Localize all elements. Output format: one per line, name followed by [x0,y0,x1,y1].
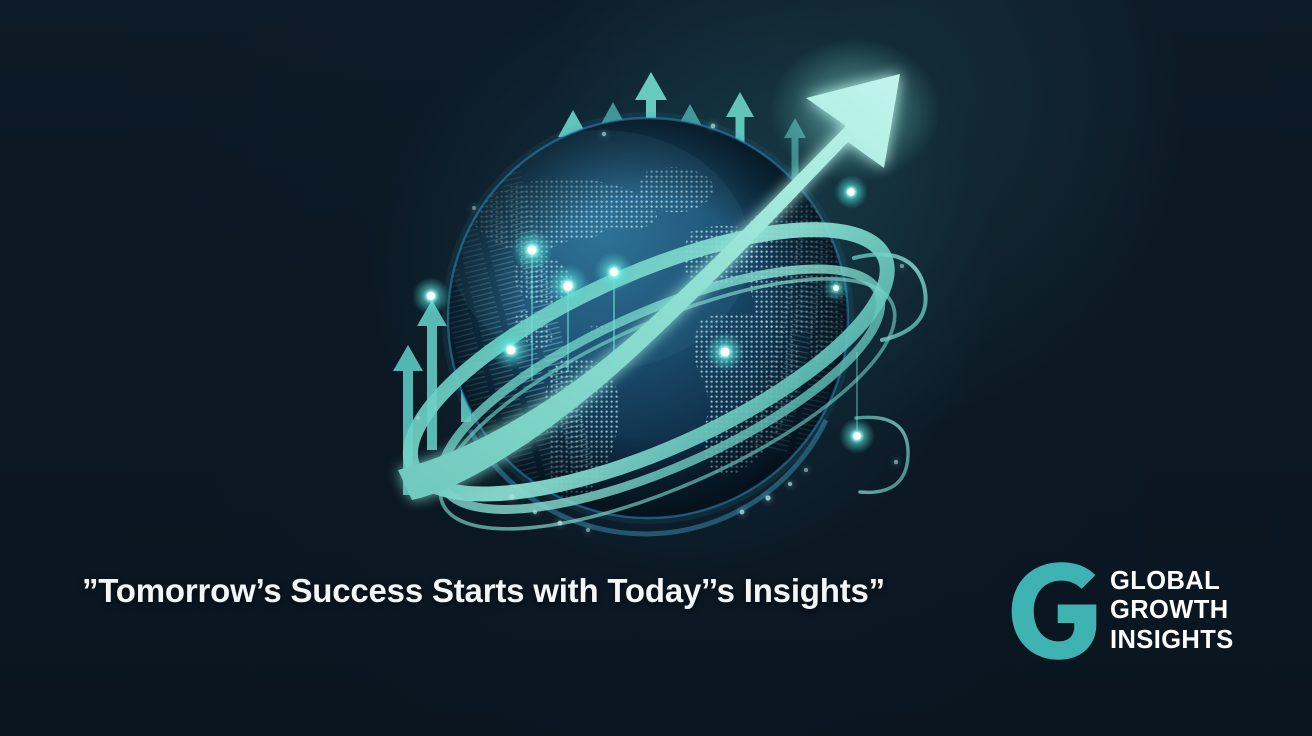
tagline-quote: ”Tomorrow’s Success Starts with Today’’s… [82,572,972,610]
glow-node [412,277,450,315]
logo-line-3: INSIGHTS [1110,626,1234,656]
glow-node [491,330,531,370]
logo-wordmark: GLOBAL GROWTH INSIGHTS [1110,567,1234,656]
logo-line-1: GLOBAL [1110,567,1234,597]
poster-canvas: ”Tomorrow’s Success Starts with Today’’s… [0,0,1312,736]
logo-g-mark [1008,562,1100,660]
glow-node [705,332,745,372]
glow-node [834,175,868,209]
glow-node [822,274,850,302]
brand-logo[interactable]: GLOBAL GROWTH INSIGHTS [1008,562,1234,660]
logo-line-2: GROWTH [1110,596,1234,626]
